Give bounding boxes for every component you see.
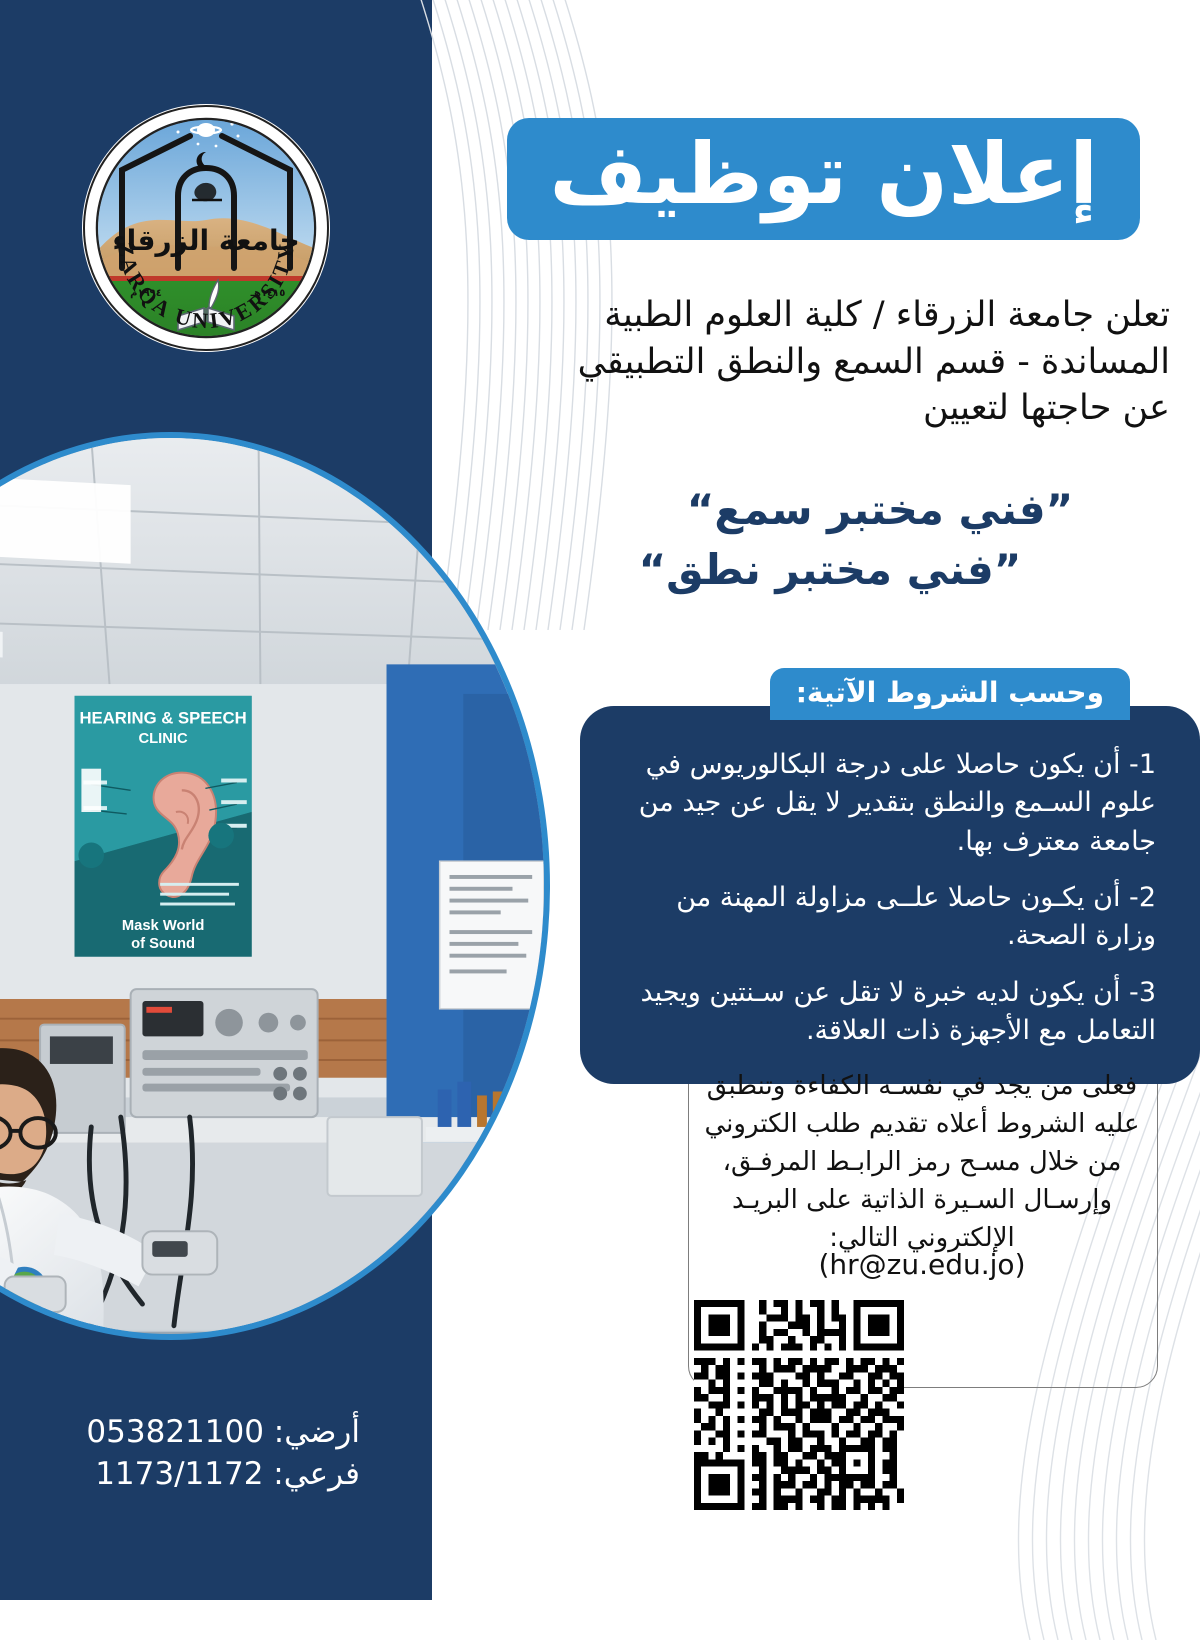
qr-code[interactable]: [694, 1300, 904, 1510]
job-title-1: ”فني مختبر سمع“: [540, 480, 1160, 540]
apply-email: (hr@zu.edu.jo): [704, 1248, 1140, 1281]
job-title-2: ”فني مختبر نطق“: [540, 540, 1160, 600]
extension-label: فرعي:: [273, 1456, 360, 1492]
apply-instructions-text: فعلى من يجد في نفسـه الكفاءة وتنطبق عليه…: [704, 1068, 1140, 1258]
poster-root: جامعة الزرقاء ١٩٩٤م ١٤١٥هـ: [0, 0, 1200, 1600]
job-titles: ”فني مختبر سمع“ ”فني مختبر نطق“: [540, 480, 1160, 599]
contact-numbers: أرضي: 053821100 فرعي: 1173/1172: [60, 1412, 360, 1495]
clinic-photo: HEARING & SPEECH CLINIC: [0, 432, 550, 1340]
condition-item-3: 3- أن يكون لديه خبرة لا تقل عن سـنتين وي…: [628, 974, 1156, 1051]
svg-text:of Sound: of Sound: [131, 936, 195, 952]
condition-item-2: 2- أن يكـون حاصلا علــى مزاولة المهنة من…: [628, 879, 1156, 956]
page-title: إعلان توظيف: [507, 118, 1140, 240]
intro-paragraph: تعلن جامعة الزرقاء / كلية العلوم الطبية …: [540, 292, 1170, 432]
university-logo: جامعة الزرقاء ١٩٩٤م ١٤١٥هـ: [78, 100, 334, 356]
zarqa-university-seal-icon: جامعة الزرقاء ١٩٩٤م ١٤١٥هـ: [78, 100, 334, 356]
conditions-box: 1- أن يكون حاصلا على درجة البكالوريوس في…: [580, 706, 1200, 1084]
svg-text:HEARING & SPEECH: HEARING & SPEECH: [80, 708, 247, 727]
extension-number: 1173/1172: [95, 1456, 263, 1492]
landline-number: 053821100: [86, 1414, 264, 1450]
landline-line: أرضي: 053821100: [60, 1412, 360, 1454]
svg-text:Mask World: Mask World: [122, 918, 205, 934]
qr-code-icon[interactable]: [694, 1300, 904, 1510]
svg-text:جامعة الزرقاء: جامعة الزرقاء: [112, 224, 299, 257]
conditions-heading: وحسب الشروط الآتية:: [770, 668, 1130, 720]
landline-label: أرضي:: [274, 1414, 360, 1450]
clinic-photo-illustration: HEARING & SPEECH CLINIC: [0, 438, 544, 1332]
condition-item-1: 1- أن يكون حاصلا على درجة البكالوريوس في…: [628, 746, 1156, 861]
extension-line: فرعي: 1173/1172: [60, 1454, 360, 1496]
svg-text:CLINIC: CLINIC: [139, 731, 189, 747]
